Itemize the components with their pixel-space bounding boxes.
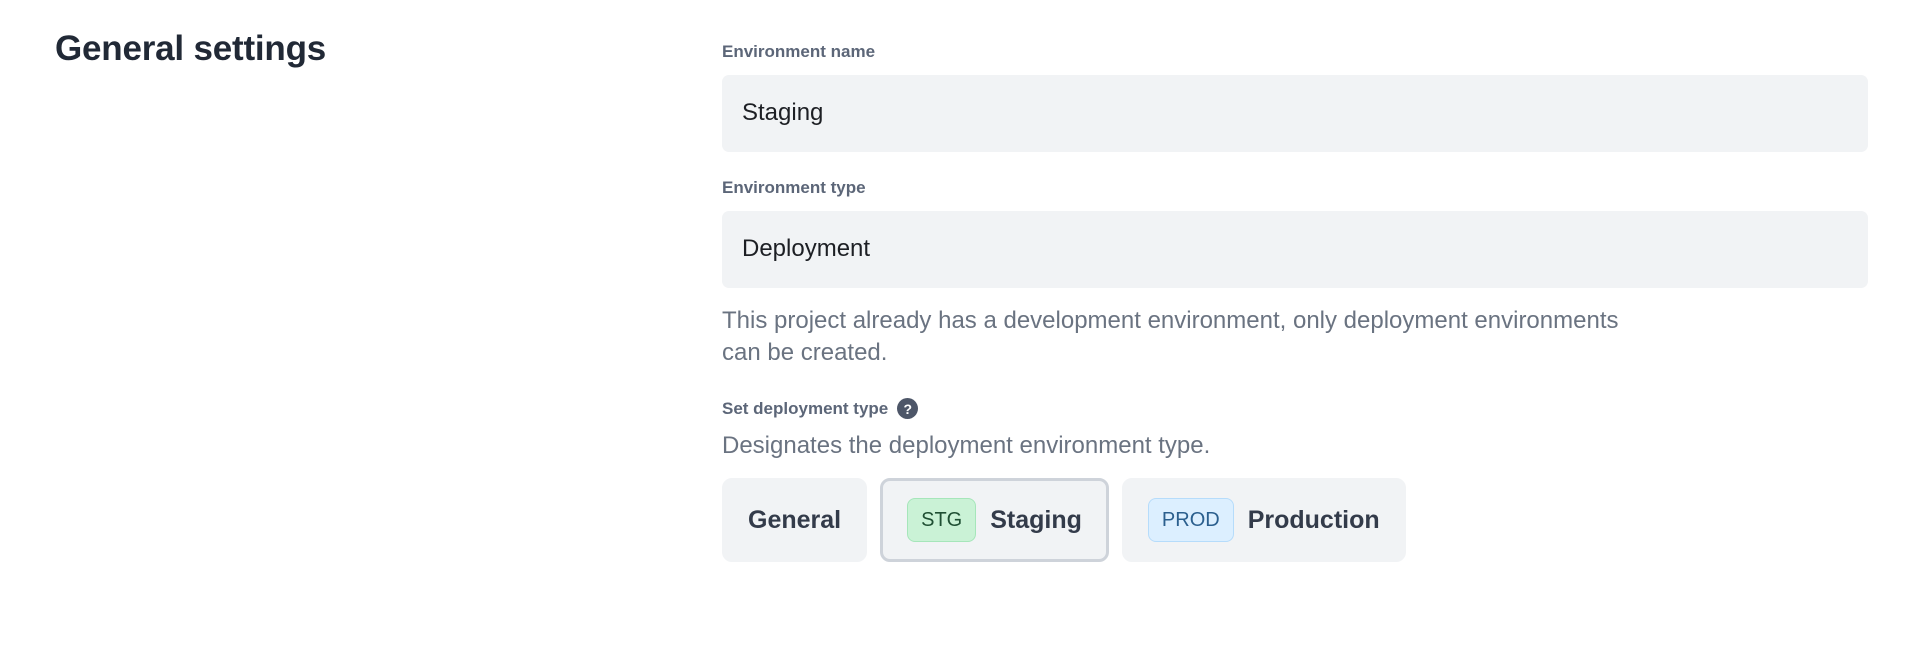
deployment-type-option-production-label: Production xyxy=(1248,508,1380,533)
environment-type-field-group: Environment type This project already ha… xyxy=(722,176,1868,370)
deployment-type-option-staging[interactable]: STG Staging xyxy=(880,478,1109,562)
settings-form: Environment name Environment type This p… xyxy=(722,40,1868,562)
environment-type-label: Environment type xyxy=(722,176,1868,200)
page-title: General settings xyxy=(55,28,655,70)
environment-name-input[interactable] xyxy=(722,75,1868,152)
deployment-type-toggle-group: General STG Staging PROD Production xyxy=(722,478,1868,562)
deployment-type-option-general-label: General xyxy=(748,508,841,533)
question-mark-glyph: ? xyxy=(903,402,912,416)
settings-section-header: General settings xyxy=(55,28,655,70)
deployment-type-description: Designates the deployment environment ty… xyxy=(722,430,1868,462)
general-settings-page: General settings Environment name Enviro… xyxy=(0,0,1916,652)
deployment-type-section: Set deployment type ? Designates the dep… xyxy=(722,398,1868,562)
deployment-type-label-row: Set deployment type ? xyxy=(722,398,1868,420)
staging-badge: STG xyxy=(907,498,976,542)
production-badge: PROD xyxy=(1148,498,1234,542)
environment-type-help-text: This project already has a development e… xyxy=(722,305,1622,370)
environment-name-label: Environment name xyxy=(722,40,1868,64)
environment-type-input[interactable] xyxy=(722,211,1868,288)
deployment-type-option-production[interactable]: PROD Production xyxy=(1122,478,1406,562)
deployment-type-option-general[interactable]: General xyxy=(722,478,867,562)
environment-name-field-group: Environment name xyxy=(722,40,1868,152)
deployment-type-label: Set deployment type xyxy=(722,398,888,420)
question-mark-icon[interactable]: ? xyxy=(897,398,918,419)
deployment-type-option-staging-label: Staging xyxy=(990,508,1082,533)
